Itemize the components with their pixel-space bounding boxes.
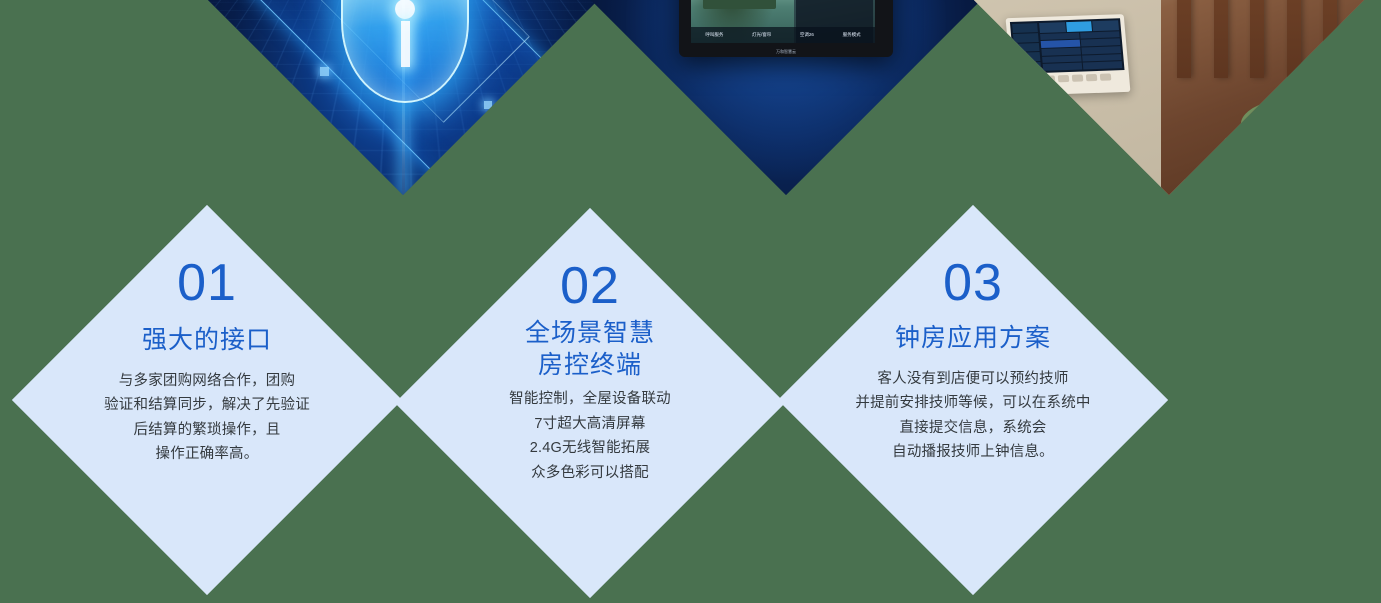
- nav-item-aircon: 空调26: [800, 32, 814, 38]
- panel-menu-item[interactable]: [1082, 53, 1121, 61]
- spark-decoration: [484, 101, 492, 109]
- card-image-03: [974, 0, 1364, 195]
- panel-menu-column-left[interactable]: [1041, 32, 1083, 70]
- panel-menu-item[interactable]: [1082, 46, 1121, 54]
- panel-hardware-button[interactable]: [1057, 74, 1069, 81]
- panel-tab[interactable]: [1093, 20, 1119, 30]
- panel-left-button[interactable]: [1012, 23, 1038, 33]
- panel-left-button[interactable]: [1016, 62, 1042, 72]
- card-title-03: 钟房应用方案: [895, 323, 1051, 355]
- panel-menu-item-selected[interactable]: [1041, 39, 1080, 47]
- room-control-tablet-image: CSI280 22:35 SPA6房 28°C 11/24 技师 项目: [591, 0, 981, 195]
- window-view-decoration: [1161, 0, 1364, 195]
- panel-menu-item[interactable]: [1043, 62, 1082, 70]
- card-image-02: CSI280 22:35 SPA6房 28°C 11/24 技师 项目: [591, 0, 981, 195]
- feature-card-02[interactable]: 02 全场景智慧 房控终端 智能控制，全屋设备联动 7寸超大高清屏幕 2.4G无…: [395, 208, 785, 598]
- panel-main-area: [1040, 20, 1123, 70]
- panel-left-button[interactable]: [1014, 42, 1040, 52]
- nav-item-light-curtain: 灯光/窗帘: [752, 32, 771, 38]
- feature-card-02-content: 02 全场景智慧 房控终端 智能控制，全屋设备联动 7寸超大高清屏幕 2.4G无…: [395, 208, 785, 598]
- card-title-02: 全场景智慧 房控终端: [525, 318, 655, 381]
- panel-menu-item[interactable]: [1081, 38, 1120, 46]
- card-image-01: [208, 0, 598, 195]
- panel-left-button[interactable]: [1015, 52, 1041, 62]
- device-footer-brand: 万和智慧云: [679, 49, 893, 55]
- spark-decoration: [320, 67, 329, 76]
- keyhole-icon: [395, 0, 415, 19]
- key-stem-icon: [401, 21, 410, 67]
- nav-item-call-service: 呼叫服务: [705, 32, 723, 38]
- panel-screen: [1010, 18, 1125, 73]
- shield-lock-circuit-image: [208, 0, 598, 195]
- panel-menu-column-right[interactable]: [1080, 30, 1122, 68]
- panel-left-buttons[interactable]: [1012, 23, 1042, 72]
- panel-menu-item[interactable]: [1083, 61, 1122, 69]
- tablet-device: CSI280 22:35 SPA6房 28°C 11/24 技师 项目: [679, 0, 893, 57]
- panel-menu-grid[interactable]: [1041, 30, 1123, 70]
- panel-hardware-button[interactable]: [1071, 74, 1083, 81]
- card-title-01: 强大的接口: [142, 325, 272, 357]
- wood-slat-decoration: [1287, 0, 1301, 78]
- panel-hardware-button[interactable]: [1029, 75, 1041, 82]
- card-body-01: 与多家团购网络合作，团购 验证和结算同步，解决了先验证 后结算的繁琐操作，且 操…: [104, 369, 310, 468]
- card-number-03: 03: [943, 257, 1003, 309]
- panel-menu-item[interactable]: [1043, 55, 1082, 63]
- panel-hardware-buttons[interactable]: [1015, 72, 1126, 83]
- wood-slat-decoration: [1177, 0, 1191, 78]
- plant-leaf-decoration: [1222, 132, 1264, 158]
- feature-card-03[interactable]: 03 钟房应用方案 客人没有到店便可以预约技师 并提前安排技师等候，可以在系统中…: [778, 205, 1168, 595]
- feature-card-01[interactable]: 01 强大的接口 与多家团购网络合作，团购 验证和结算同步，解决了先验证 后结算…: [12, 205, 402, 595]
- panel-hardware-button[interactable]: [1085, 73, 1097, 80]
- wood-slat-decoration: [1214, 0, 1228, 78]
- nav-item-service-mode: 服务模式: [843, 32, 861, 38]
- panel-menu-item[interactable]: [1080, 30, 1119, 38]
- panel-hardware-button[interactable]: [1043, 75, 1055, 82]
- wall-control-panel[interactable]: [1006, 14, 1131, 96]
- panel-left-button[interactable]: [1013, 32, 1039, 42]
- card-number-01: 01: [177, 257, 237, 309]
- feature-diamond-banner: CSI280 22:35 SPA6房 28°C 11/24 技师 项目: [0, 0, 1381, 603]
- wall-control-panel-image: [974, 0, 1364, 195]
- wood-slat-decoration: [1250, 0, 1264, 78]
- feature-card-01-content: 01 强大的接口 与多家团购网络合作，团购 验证和结算同步，解决了先验证 后结算…: [12, 205, 402, 595]
- panel-menu-item[interactable]: [1041, 32, 1080, 40]
- panel-tab[interactable]: [1040, 22, 1066, 32]
- feature-card-03-content: 03 钟房应用方案 客人没有到店便可以预约技师 并提前安排技师等候，可以在系统中…: [778, 205, 1168, 595]
- wood-slat-decoration: [1323, 0, 1337, 78]
- panel-tab-active[interactable]: [1066, 21, 1092, 31]
- panel-hardware-button[interactable]: [1099, 73, 1111, 80]
- card-number-02: 02: [560, 260, 620, 312]
- panel-menu-item[interactable]: [1042, 47, 1081, 55]
- plant-pot-decoration: [1240, 147, 1302, 187]
- island-decoration: [703, 0, 775, 9]
- card-body-03: 客人没有到店便可以预约技师 并提前安排技师等候，可以在系统中 直接提交信息，系统…: [855, 367, 1090, 466]
- tablet-navbar: 呼叫服务 灯光/窗帘 空调26 服务模式: [691, 27, 875, 43]
- plant-leaf-decoration: [1270, 84, 1321, 125]
- card-body-02: 智能控制，全屋设备联动 7寸超大高清屏幕 2.4G无线智能拓展 众多色彩可以搭配: [509, 387, 671, 486]
